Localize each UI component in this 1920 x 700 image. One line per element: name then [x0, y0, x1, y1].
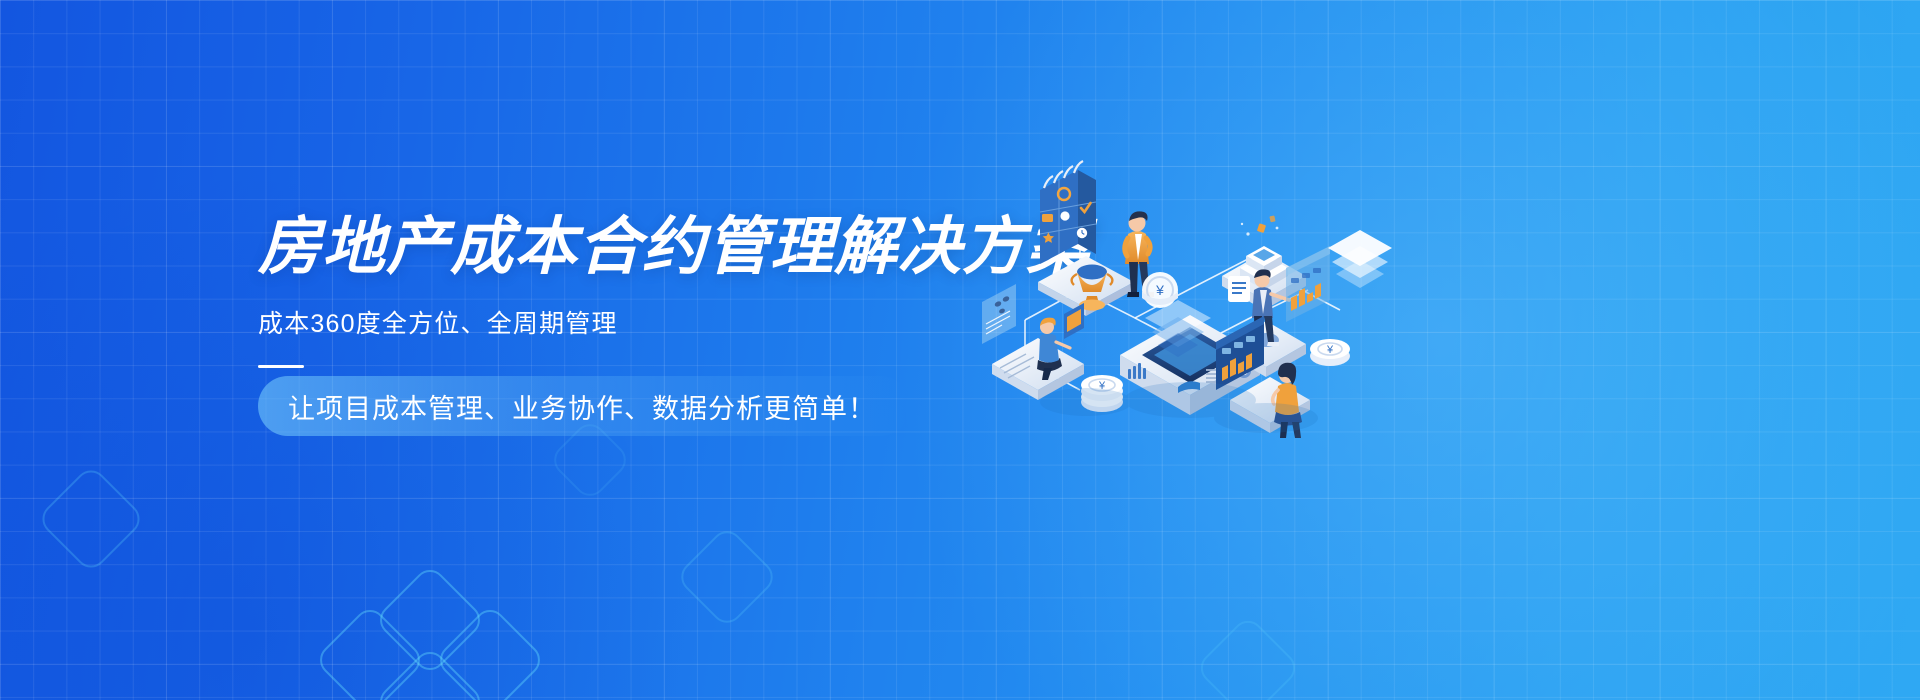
tagline-text: 让项目成本管理、业务协作、数据分析更简单！ — [288, 387, 876, 426]
page-title: 房地产成本合约管理解决方案 — [258, 214, 1018, 280]
document-lines-icon — [1228, 276, 1250, 302]
calendar-checklist-board — [1040, 161, 1096, 264]
rhombus-outline — [373, 645, 486, 700]
svg-text:¥: ¥ — [1326, 344, 1334, 356]
floating-plates-right — [1328, 230, 1392, 288]
bar-chart-panel — [1286, 246, 1330, 322]
coin-currency-symbol-right: ¥ — [1310, 339, 1350, 366]
title-divider — [258, 365, 304, 368]
svg-text:¥: ¥ — [1155, 282, 1164, 298]
rhombus-outline — [373, 563, 486, 676]
rhombus-outline — [433, 603, 546, 700]
isometric-illustration: ¥ — [930, 150, 1400, 430]
coin-currency-symbol: ¥ — [1142, 272, 1178, 308]
gear-icon — [1060, 211, 1069, 220]
rhombus-outline — [313, 603, 426, 700]
rhombus-outline — [675, 525, 780, 630]
rhombus-outline — [36, 464, 146, 574]
tagline-pill: 让项目成本管理、业务协作、数据分析更简单！ — [258, 376, 910, 436]
mail-icon — [1042, 214, 1053, 222]
hero-copy: 房地产成本合约管理解决方案 成本360度全方位、全周期管理 — [258, 214, 1018, 368]
rhombus-outline — [1194, 614, 1301, 700]
hero-banner: 房地产成本合约管理解决方案 成本360度全方位、全周期管理 让项目成本管理、业务… — [0, 0, 1920, 700]
hero-subtitle: 成本360度全方位、全周期管理 — [258, 308, 1018, 341]
memo-panel — [982, 284, 1016, 344]
sparkles — [1257, 215, 1276, 233]
